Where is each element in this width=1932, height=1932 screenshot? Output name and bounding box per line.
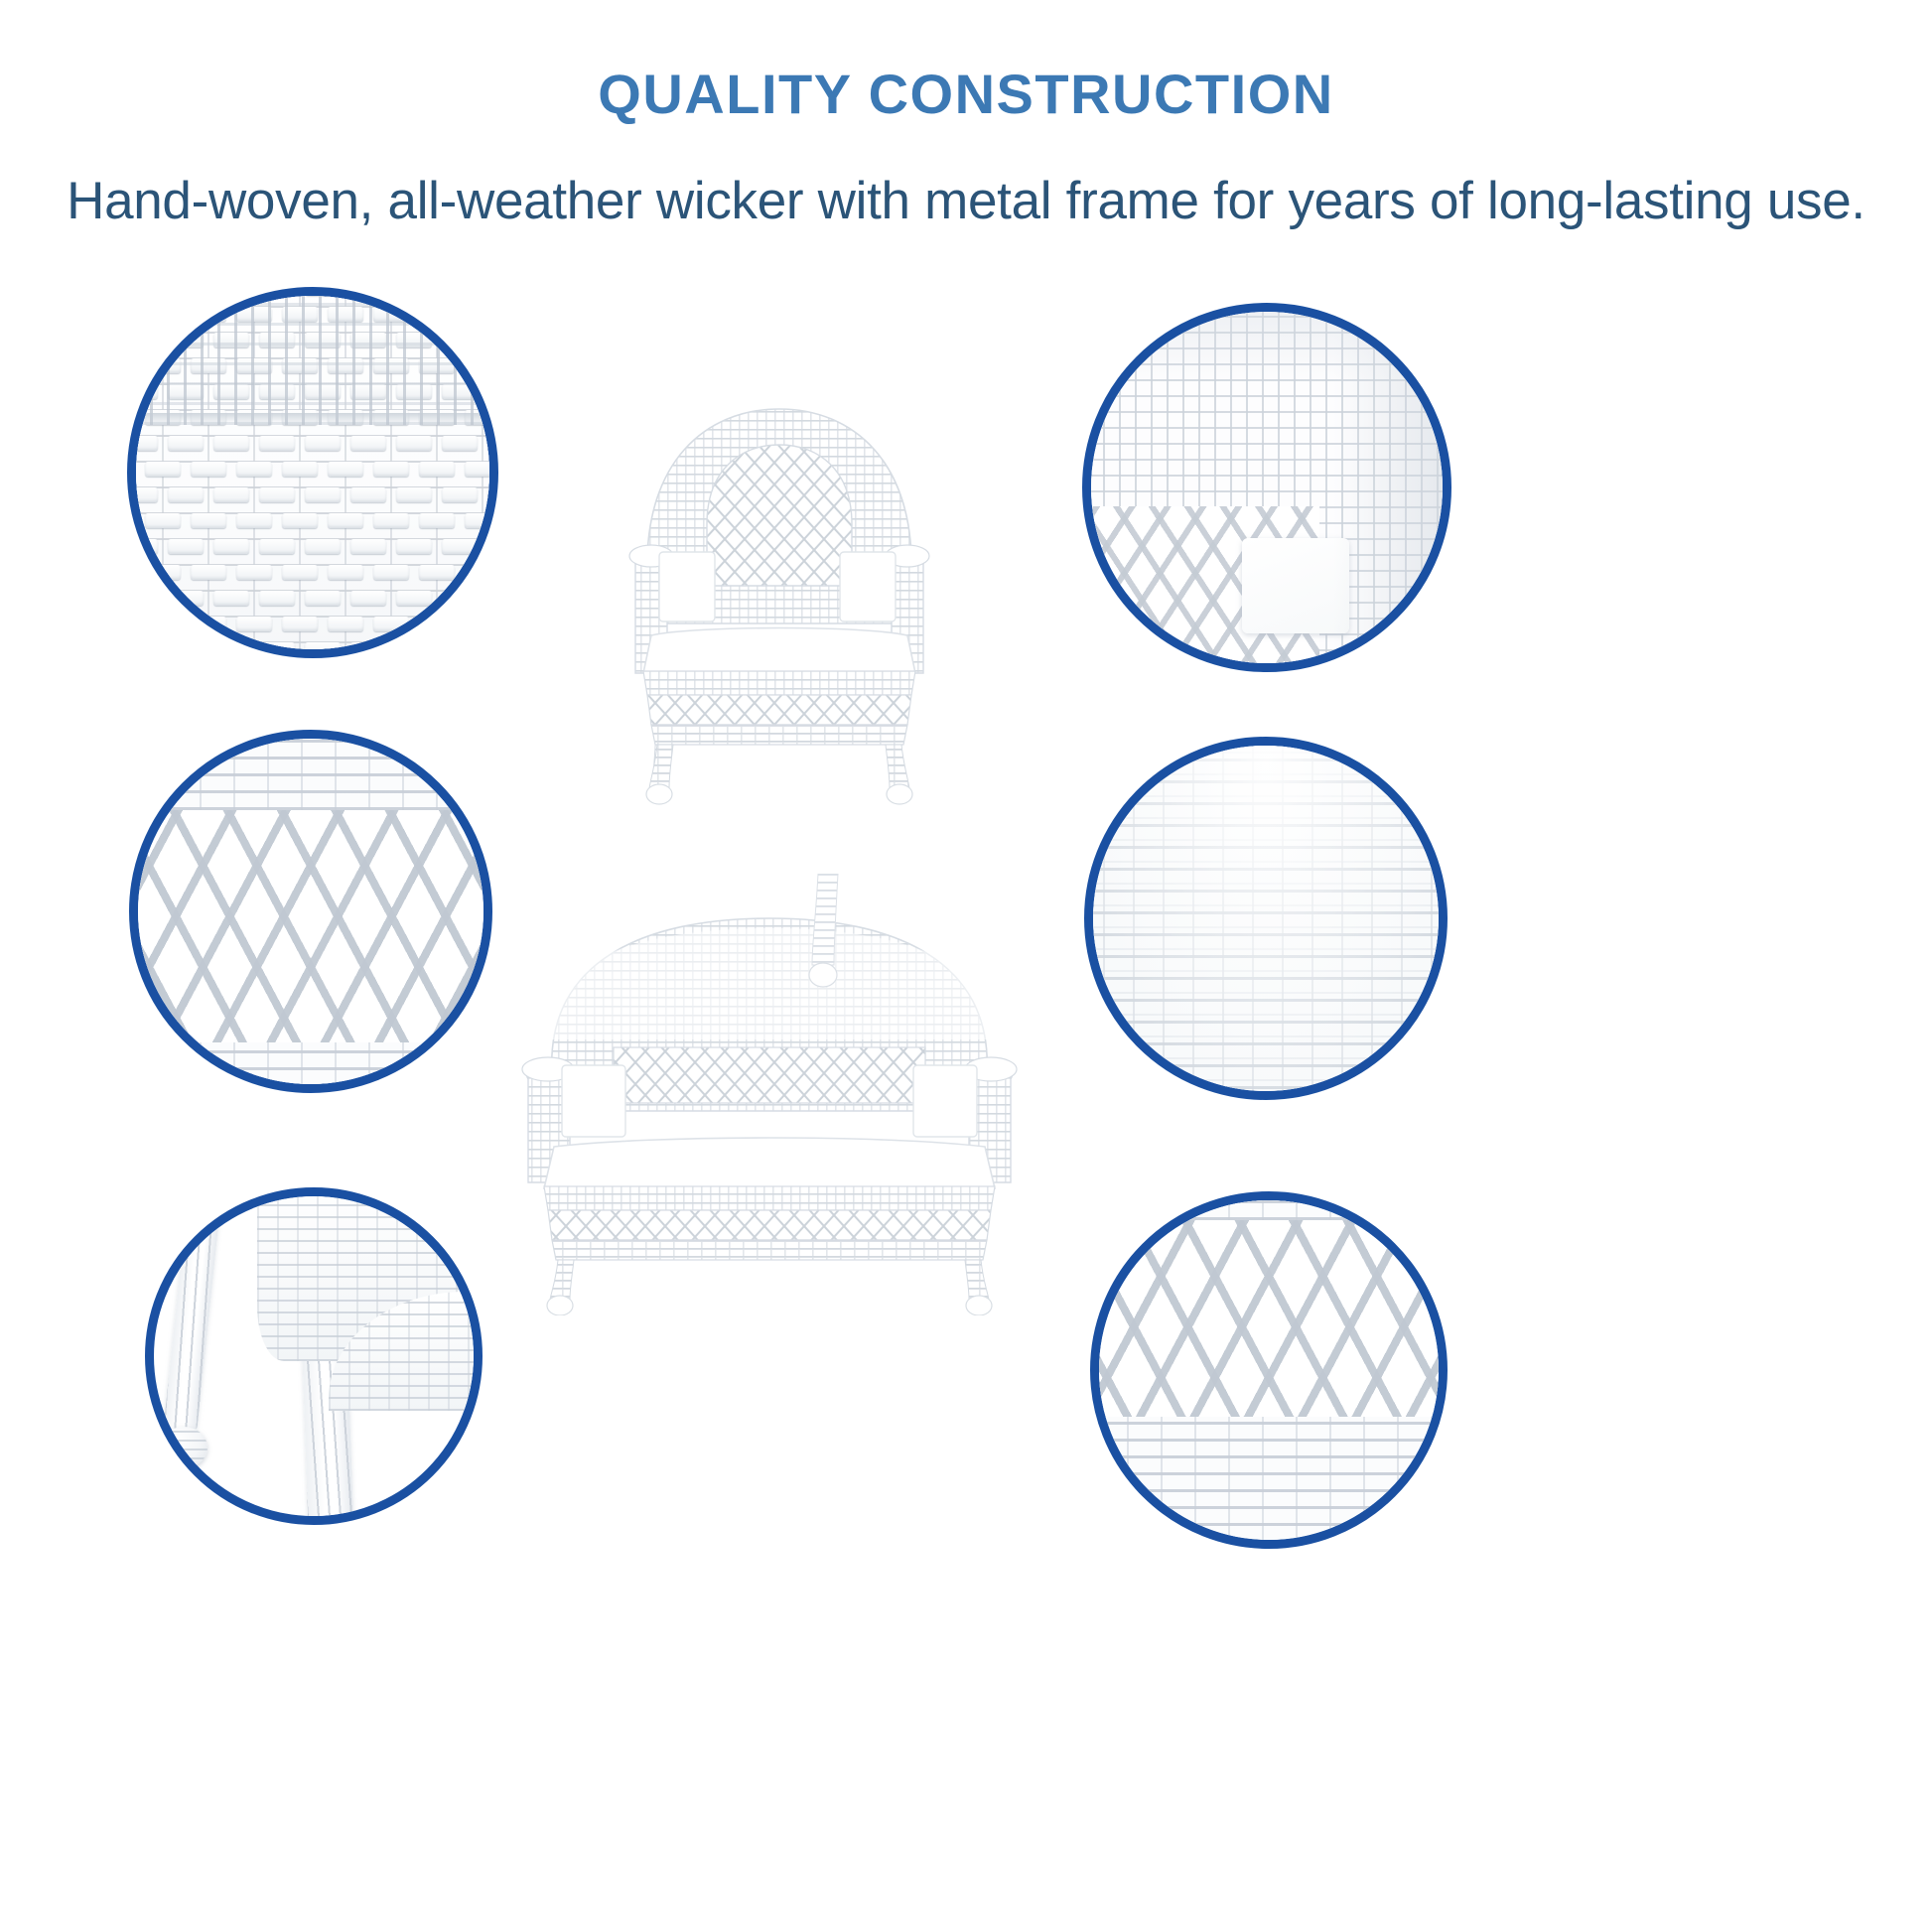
weave-seam-line (127, 413, 498, 423)
callout-stacked-strand-weave-detail (1084, 737, 1448, 1100)
wicker-chair (596, 375, 963, 812)
page-subtitle: Hand-woven, all-weather wicker with meta… (0, 171, 1932, 231)
page-title: QUALITY CONSTRUCTION (0, 62, 1932, 126)
callout-flat-basket-weave-detail (127, 287, 498, 658)
back-top-curve-shading (1082, 303, 1451, 381)
leg-wrapped-shaft-front (163, 1187, 222, 1436)
chair-rear-leg (794, 874, 864, 1003)
horizontal-strand-band-bottom (129, 1042, 492, 1093)
callout-wrapped-leg-detail (145, 1187, 483, 1525)
open-weave-band (127, 287, 498, 425)
leg-ball-foot (160, 1427, 207, 1468)
infographic-page: QUALITY CONSTRUCTION Hand-woven, all-wea… (0, 0, 1932, 1932)
skirt-base-weave-band (1090, 1417, 1448, 1549)
weave-curve-shading (1084, 737, 1448, 1100)
callout-lattice-skirt-detail (1090, 1191, 1448, 1549)
skirt-top-rail (1090, 1191, 1448, 1220)
horizontal-strand-band-top (129, 730, 492, 810)
wicker-loveseat (486, 898, 1052, 1315)
callout-chair-back-weave-detail (1082, 303, 1451, 672)
skirt-lattice-texture (1090, 1191, 1448, 1419)
callout-diamond-lattice-detail (129, 730, 492, 1093)
